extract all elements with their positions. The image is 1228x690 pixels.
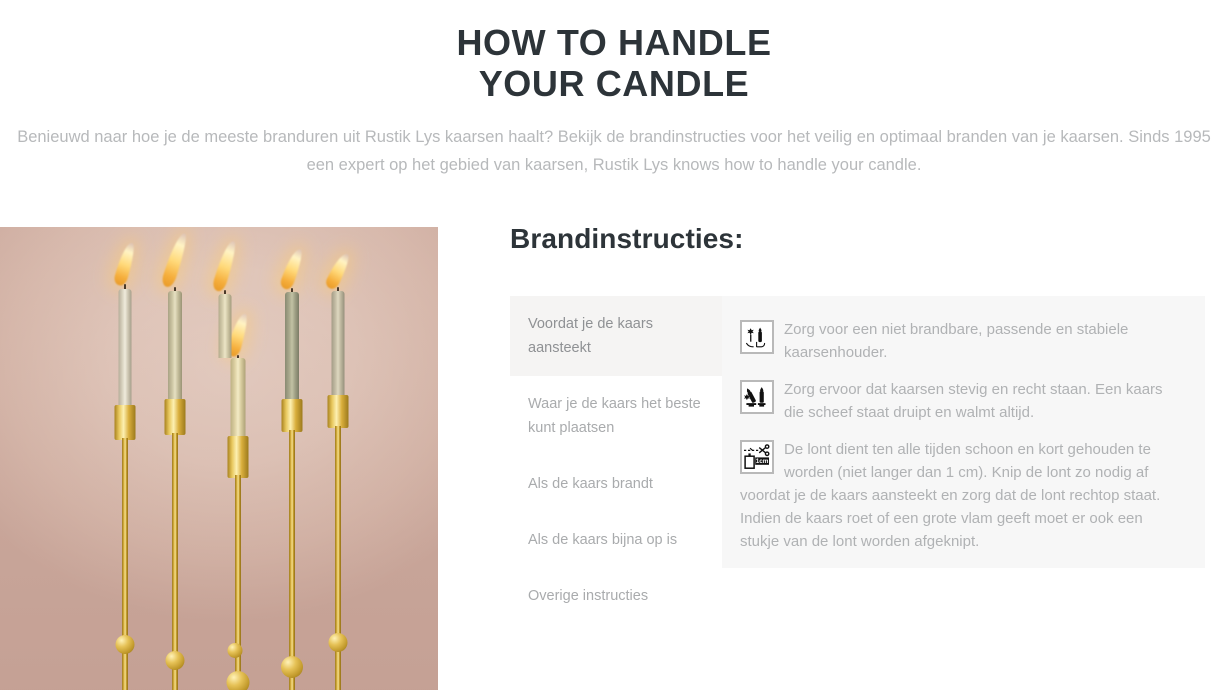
candle-wax (285, 292, 299, 402)
brass-collar (328, 395, 349, 428)
instruction-item: 1cm De lont dient ten alle tijden schoon… (740, 438, 1183, 553)
trim-wick-scissors-icon: 1cm (740, 440, 774, 474)
tab-als-de-kaars-bijna-op-is[interactable]: Als de kaars bijna op is (510, 512, 722, 568)
instruction-item: Zorg voor een niet brandbare, passende e… (740, 318, 1183, 364)
candle-5 (318, 227, 358, 690)
instructions-heading: Brandinstructies: (510, 222, 1210, 256)
candle-4 (272, 227, 312, 690)
page-title-line-2: YOUR CANDLE (0, 63, 1228, 104)
intro-paragraph: Benieuwd naar hoe je de meeste branduren… (8, 123, 1221, 179)
tab-label: Overige instructies (528, 588, 648, 604)
tab-label: Als de kaars brandt (528, 476, 653, 492)
tab-overige-instructies[interactable]: Overige instructies (510, 568, 722, 624)
candle-wax (119, 289, 132, 409)
brass-ball (329, 633, 348, 652)
candle-3-back (210, 227, 240, 690)
tab-label: Voordat je de kaars aansteekt (528, 316, 653, 356)
brass-ball (281, 656, 303, 678)
brass-collar (165, 399, 186, 435)
instructions-column: Brandinstructies: (510, 222, 1210, 256)
brass-stem (289, 430, 295, 690)
instruction-panel: Zorg voor een niet brandbare, passende e… (722, 296, 1205, 568)
candle-photo (0, 227, 438, 690)
page-title-line-1: HOW TO HANDLE (0, 22, 1228, 63)
brass-collar (115, 405, 136, 440)
candle-holder-stable-icon (740, 320, 774, 354)
flame-icon (279, 247, 306, 291)
instruction-tab-list: Voordat je de kaars aansteekt Waar je de… (510, 296, 722, 568)
tab-label: Waar je de kaars het beste kunt plaatsen (528, 396, 701, 436)
instruction-text: Zorg voor een niet brandbare, passende e… (740, 318, 1183, 364)
instructions-accordion: Voordat je de kaars aansteekt Waar je de… (510, 296, 1205, 568)
candle-wax (332, 291, 345, 397)
instruction-text: De lont dient ten alle tijden schoon en … (740, 438, 1183, 553)
tab-voordat-je-de-kaars-aansteekt[interactable]: Voordat je de kaars aansteekt (510, 296, 722, 376)
tab-label: Als de kaars bijna op is (528, 532, 677, 548)
flame-icon (160, 231, 190, 288)
candle-2 (155, 227, 195, 690)
page-title: HOW TO HANDLE YOUR CANDLE (0, 22, 1228, 104)
flame-icon (113, 241, 138, 287)
tab-waar-je-de-kaars-het-beste-kunt-plaatsen[interactable]: Waar je de kaars het beste kunt plaatsen (510, 376, 722, 456)
brass-collar (282, 399, 303, 432)
flame-icon (324, 251, 352, 291)
flame-icon (211, 239, 239, 293)
page-header: HOW TO HANDLE YOUR CANDLE Benieuwd naar … (0, 0, 1228, 179)
instruction-text: Zorg ervoor dat kaarsen stevig en recht … (740, 378, 1183, 424)
page-root: HOW TO HANDLE YOUR CANDLE Benieuwd naar … (0, 0, 1228, 690)
candle-upright-icon (740, 380, 774, 414)
candle-wax (219, 294, 232, 358)
candle-1 (105, 227, 145, 690)
brass-ball (166, 651, 185, 670)
tab-als-de-kaars-brandt[interactable]: Als de kaars brandt (510, 456, 722, 512)
brass-ball (116, 635, 135, 654)
instruction-item: Zorg ervoor dat kaarsen stevig en recht … (740, 378, 1183, 424)
svg-text:1cm: 1cm (756, 458, 769, 465)
candle-wax (168, 291, 182, 403)
